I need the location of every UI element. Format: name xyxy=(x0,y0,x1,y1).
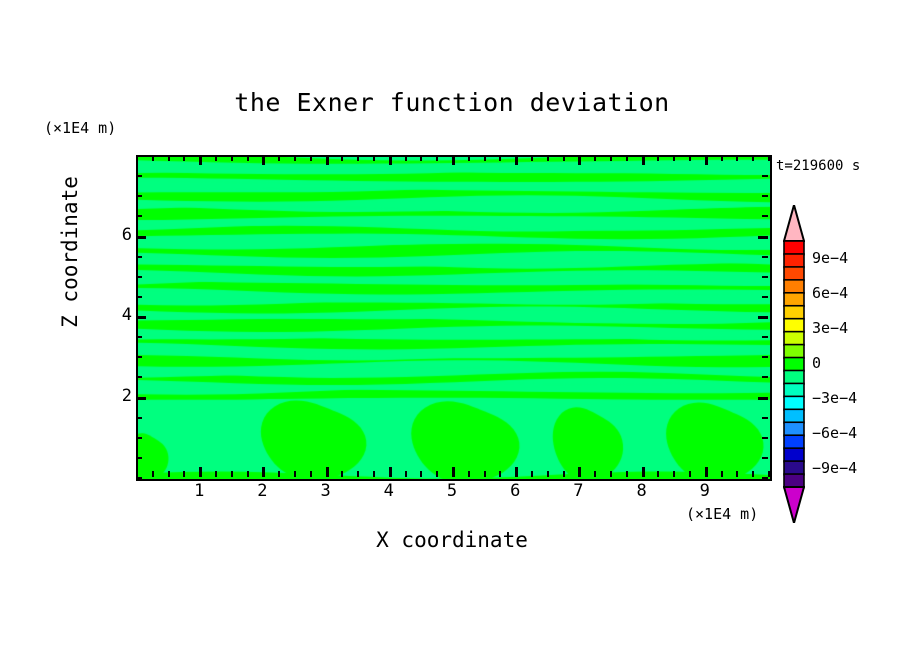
x-major-tick xyxy=(262,467,265,477)
y-minor-tick xyxy=(136,256,142,258)
x-minor-tick xyxy=(357,155,359,161)
x-minor-tick xyxy=(436,155,438,161)
x-minor-tick xyxy=(721,155,723,161)
colorbar-tick-label: −9e−4 xyxy=(812,459,857,477)
colorbar-tick-label: 0 xyxy=(812,354,821,372)
x-minor-tick xyxy=(484,471,486,477)
x-minor-tick xyxy=(768,155,770,161)
y-minor-tick xyxy=(136,155,142,157)
y-minor-tick xyxy=(762,195,768,197)
y-minor-tick xyxy=(762,437,768,439)
x-minor-tick xyxy=(294,155,296,161)
x-axis-title: X coordinate xyxy=(136,528,768,552)
y-minor-tick xyxy=(762,215,768,217)
x-minor-tick xyxy=(357,471,359,477)
y-minor-tick xyxy=(136,437,142,439)
x-major-tick xyxy=(389,155,392,165)
colorbar-band xyxy=(784,370,804,384)
x-major-tick xyxy=(578,467,581,477)
x-major-tick xyxy=(326,155,329,165)
x-minor-tick xyxy=(531,471,533,477)
x-minor-tick xyxy=(310,155,312,161)
colorbar-band xyxy=(784,332,804,346)
y-minor-tick xyxy=(762,155,768,157)
x-major-tick xyxy=(705,155,708,165)
x-minor-tick xyxy=(468,155,470,161)
x-tick-label: 1 xyxy=(179,481,219,501)
x-minor-tick xyxy=(405,155,407,161)
y-axis-title: Z coordinate xyxy=(58,152,82,352)
y-minor-tick xyxy=(762,256,768,258)
colorbar-under-cap xyxy=(784,487,804,523)
x-minor-tick xyxy=(626,471,628,477)
x-minor-tick xyxy=(563,155,565,161)
x-major-tick xyxy=(642,155,645,165)
y-minor-tick xyxy=(762,336,768,338)
x-minor-tick xyxy=(768,471,770,477)
colorbar-tick-label: 3e−4 xyxy=(812,319,848,337)
x-minor-tick xyxy=(594,155,596,161)
y-axis-unit-label: (×1E4 m) xyxy=(44,119,116,137)
colorbar-band xyxy=(784,474,804,488)
x-major-tick xyxy=(705,467,708,477)
contour-plot-area xyxy=(136,155,772,481)
x-minor-tick xyxy=(531,155,533,161)
y-minor-tick xyxy=(762,296,768,298)
y-minor-tick xyxy=(136,195,142,197)
x-minor-tick xyxy=(610,155,612,161)
y-minor-tick xyxy=(136,376,142,378)
colorbar-band xyxy=(784,241,804,255)
y-minor-tick xyxy=(762,356,768,358)
x-minor-tick xyxy=(420,155,422,161)
x-major-tick xyxy=(199,155,202,165)
y-tick-label: 4 xyxy=(102,305,132,325)
x-tick-label: 6 xyxy=(495,481,535,501)
x-minor-tick xyxy=(563,471,565,477)
x-major-tick xyxy=(199,467,202,477)
x-minor-tick xyxy=(152,471,154,477)
x-minor-tick xyxy=(278,471,280,477)
x-minor-tick xyxy=(215,155,217,161)
colorbar-swatches xyxy=(783,205,805,523)
y-minor-tick xyxy=(762,276,768,278)
x-major-tick xyxy=(389,467,392,477)
colorbar-band xyxy=(784,293,804,307)
x-minor-tick xyxy=(752,155,754,161)
colorbar-band xyxy=(784,383,804,397)
colorbar-band xyxy=(784,409,804,423)
x-minor-tick xyxy=(547,471,549,477)
x-minor-tick xyxy=(484,155,486,161)
x-minor-tick xyxy=(183,471,185,477)
x-minor-tick xyxy=(168,471,170,477)
y-major-tick xyxy=(136,397,146,400)
x-minor-tick xyxy=(294,471,296,477)
x-tick-label: 4 xyxy=(369,481,409,501)
colorbar-tick-label: 9e−4 xyxy=(812,249,848,267)
y-major-tick xyxy=(136,316,146,319)
x-major-tick xyxy=(515,155,518,165)
x-minor-tick xyxy=(689,155,691,161)
x-minor-tick xyxy=(610,471,612,477)
x-tick-label: 8 xyxy=(622,481,662,501)
x-minor-tick xyxy=(231,471,233,477)
colorbar-band xyxy=(784,280,804,294)
colorbar-band xyxy=(784,461,804,475)
x-major-tick xyxy=(452,155,455,165)
colorbar xyxy=(783,205,805,523)
colorbar-band xyxy=(784,422,804,436)
colorbar-band xyxy=(784,254,804,268)
y-minor-tick xyxy=(136,356,142,358)
x-minor-tick xyxy=(310,471,312,477)
x-minor-tick xyxy=(278,155,280,161)
x-minor-tick xyxy=(373,155,375,161)
colorbar-band xyxy=(784,358,804,372)
y-minor-tick xyxy=(762,457,768,459)
x-minor-tick xyxy=(373,471,375,477)
colorbar-band xyxy=(784,396,804,410)
timestamp-annotation: t=219600 s xyxy=(776,158,860,174)
x-tick-label: 2 xyxy=(242,481,282,501)
colorbar-band xyxy=(784,306,804,320)
x-minor-tick xyxy=(721,471,723,477)
x-major-tick xyxy=(326,467,329,477)
x-minor-tick xyxy=(752,471,754,477)
x-major-tick xyxy=(642,467,645,477)
y-minor-tick xyxy=(762,376,768,378)
y-major-tick xyxy=(758,236,768,239)
y-minor-tick xyxy=(762,417,768,419)
x-minor-tick xyxy=(231,155,233,161)
y-minor-tick xyxy=(136,457,142,459)
x-minor-tick xyxy=(341,155,343,161)
x-minor-tick xyxy=(736,471,738,477)
x-minor-tick xyxy=(657,471,659,477)
y-major-tick xyxy=(136,236,146,239)
x-minor-tick xyxy=(468,471,470,477)
y-minor-tick xyxy=(136,215,142,217)
y-minor-tick xyxy=(136,477,142,479)
x-axis-unit-label: (×1E4 m) xyxy=(686,505,758,523)
y-tick-label: 6 xyxy=(102,225,132,245)
x-minor-tick xyxy=(499,155,501,161)
x-tick-label: 9 xyxy=(685,481,725,501)
x-minor-tick xyxy=(247,471,249,477)
colorbar-tick-label: −6e−4 xyxy=(812,424,857,442)
contour-field-canvas xyxy=(138,157,770,479)
y-minor-tick xyxy=(136,336,142,338)
y-minor-tick xyxy=(136,276,142,278)
x-minor-tick xyxy=(341,471,343,477)
x-minor-tick xyxy=(183,155,185,161)
x-minor-tick xyxy=(594,471,596,477)
colorbar-band xyxy=(784,345,804,359)
x-tick-label: 3 xyxy=(306,481,346,501)
colorbar-tick-label: 6e−4 xyxy=(812,284,848,302)
y-minor-tick xyxy=(136,417,142,419)
x-minor-tick xyxy=(420,471,422,477)
x-minor-tick xyxy=(736,155,738,161)
x-major-tick xyxy=(452,467,455,477)
colorbar-tick-label: −3e−4 xyxy=(812,389,857,407)
x-major-tick xyxy=(262,155,265,165)
x-minor-tick xyxy=(152,155,154,161)
x-tick-label: 7 xyxy=(558,481,598,501)
colorbar-band xyxy=(784,267,804,281)
x-minor-tick xyxy=(215,471,217,477)
x-minor-tick xyxy=(168,155,170,161)
y-minor-tick xyxy=(136,296,142,298)
y-minor-tick xyxy=(762,175,768,177)
y-major-tick xyxy=(758,397,768,400)
x-minor-tick xyxy=(626,155,628,161)
colorbar-over-cap xyxy=(784,205,804,241)
x-minor-tick xyxy=(247,155,249,161)
x-minor-tick xyxy=(499,471,501,477)
x-major-tick xyxy=(515,467,518,477)
x-minor-tick xyxy=(547,155,549,161)
x-major-tick xyxy=(578,155,581,165)
y-major-tick xyxy=(758,316,768,319)
x-minor-tick xyxy=(673,155,675,161)
x-minor-tick xyxy=(436,471,438,477)
x-minor-tick xyxy=(689,471,691,477)
x-minor-tick xyxy=(657,155,659,161)
y-minor-tick xyxy=(136,175,142,177)
y-tick-label: 2 xyxy=(102,386,132,406)
colorbar-band xyxy=(784,448,804,462)
y-minor-tick xyxy=(762,477,768,479)
x-tick-label: 5 xyxy=(432,481,472,501)
page-title: the Exner function deviation xyxy=(0,88,904,117)
x-minor-tick xyxy=(405,471,407,477)
colorbar-band xyxy=(784,319,804,333)
x-minor-tick xyxy=(673,471,675,477)
colorbar-band xyxy=(784,435,804,449)
